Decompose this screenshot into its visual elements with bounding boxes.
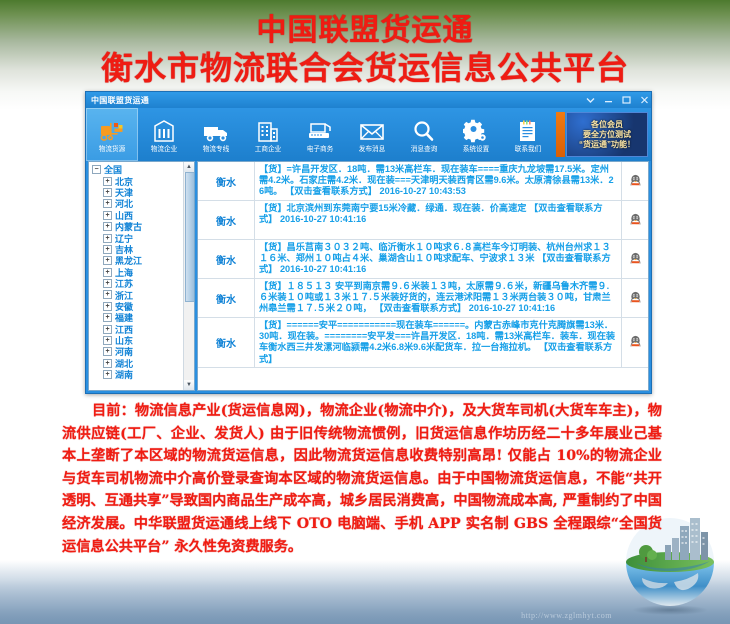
tree-node-shandong[interactable]: +山东 [91, 335, 194, 346]
page-title: 中国联盟货运通 衡水市物流联合会货运信息公共平台 [0, 14, 730, 88]
tree-expander-icon[interactable]: + [103, 188, 112, 197]
region-tree-panel: − 全国 +北京 +天津 +河北 +山西 +内蒙古 +辽宁 +吉林 +黑龙江 +… [88, 161, 195, 391]
toolbar-label: 工商企业 [255, 144, 282, 154]
toolbar-item-xitong-shezhi[interactable]: 系统设置 [450, 108, 502, 161]
tree-node-zhejiang[interactable]: +浙江 [91, 289, 194, 300]
tree-expander-icon[interactable]: + [103, 347, 112, 356]
row-timestamp: 2016-10-27 10:41:16 [280, 264, 366, 274]
tree-node-jiangxi[interactable]: +江西 [91, 323, 194, 334]
application-window: 中国联盟货运通 [85, 91, 652, 394]
tree-node-shanghai[interactable]: +上海 [91, 267, 194, 278]
tree-node-fujian[interactable]: +福建 [91, 312, 194, 323]
row-timestamp: 2016-10-27 10:41:16 [469, 303, 555, 313]
tree-expander-icon[interactable]: + [103, 222, 112, 231]
tree-expander-icon[interactable]: + [103, 177, 112, 186]
table-row[interactable]: 衡水 【货】北京滨州到东莞南宁要15米冷藏．绿通．现在装．价高速定 【双击查看联… [198, 201, 648, 240]
toolbar-label: 物流货源 [99, 144, 126, 154]
tree-node-hebei[interactable]: +河北 [91, 198, 194, 209]
freight-message-grid: 衡水 【货】=许昌开发区．18吨．需13米高栏车．现在装车====重庆九龙坡需1… [197, 161, 649, 391]
toolbar-item-gongshang-qiye[interactable]: 工商企业 [242, 108, 294, 161]
toolbar-item-lianxi-women[interactable]: 联系我们 [502, 108, 554, 161]
qq-penguin-icon[interactable] [622, 318, 648, 367]
row-message: 【货】======安平===========现在装车======。内蒙古赤峰市克… [255, 318, 622, 367]
tree-expander-icon[interactable]: − [92, 165, 101, 174]
qq-penguin-icon[interactable] [622, 279, 648, 317]
row-city: 衡水 [198, 240, 255, 278]
promotional-paragraph: 目前：物流信息产业(货运信息网)，物流企业(物流中介)，及大货车司机(大货车车主… [62, 400, 662, 558]
footer-url: http://www.zglmhyt.com [521, 611, 612, 620]
main-toolbar: 物流货源 物流企业 物流专线 [86, 108, 651, 161]
window-title-text: 中国联盟货运通 [88, 95, 149, 106]
tree-node-jilin[interactable]: +吉林 [91, 244, 194, 255]
member-notice-banner[interactable]: 各位会员 要全方位测试 “货运通”功能！ [566, 112, 648, 157]
table-row[interactable]: 衡水 【货】=许昌开发区．18吨．需13米高栏车．现在装车====重庆九龙坡需1… [198, 162, 648, 201]
tree-expander-icon[interactable]: + [103, 290, 112, 299]
row-city: 衡水 [198, 279, 255, 317]
scrollbar-thumb[interactable] [185, 172, 195, 302]
row-city: 衡水 [198, 201, 255, 239]
tree-node-shanxi[interactable]: +山西 [91, 210, 194, 221]
headline-line-2: 衡水市物流联合会货运信息公共平台 [0, 48, 730, 88]
toolbar-item-xiaoxi-chaxun[interactable]: 消息查询 [398, 108, 450, 161]
tree-node-quanguo[interactable]: − 全国 [91, 164, 194, 175]
row-message: 【货】=许昌开发区．18吨．需13米高栏车．现在装车====重庆九龙坡需17.5… [255, 162, 622, 200]
tree-expander-icon[interactable]: + [103, 245, 112, 254]
toolbar-label: 系统设置 [463, 144, 490, 154]
close-icon[interactable] [640, 96, 649, 104]
forklift-icon [99, 116, 125, 143]
row-timestamp: 2016-10-27 10:43:53 [379, 186, 465, 196]
scroll-up-icon[interactable]: ▲ [184, 162, 194, 172]
tree-node-henan[interactable]: +河南 [91, 346, 194, 357]
toolbar-label: 联系我们 [515, 144, 542, 154]
minimize-icon[interactable] [604, 97, 613, 103]
banner-line-3: “货运通”功能！ [579, 140, 635, 150]
toolbar-item-wuliu-qiye[interactable]: 物流企业 [138, 108, 190, 161]
document-icon [515, 116, 541, 143]
tree-expander-icon[interactable]: + [103, 325, 112, 334]
tree-scrollbar[interactable]: ▲ ▼ [183, 162, 194, 390]
scroll-down-icon[interactable]: ▼ [184, 380, 194, 390]
toolbar-divider-stripe [556, 112, 565, 157]
table-row[interactable]: 衡水 【货】昌乐莒南３０３２吨、临沂衡水１０吨求６.８高栏车今订明装、杭州台州求… [198, 240, 648, 279]
toolbar-item-wuliu-zhuanxian[interactable]: 物流专线 [190, 108, 242, 161]
banner-line-2: 要全方位测试 [583, 130, 631, 140]
row-message-text: 【货】１８５１３ 安平到南京需９.６米装１３吨，太原需９.６米，新疆乌鲁木齐需９… [259, 281, 611, 313]
banner-line-1: 各位会员 [591, 120, 623, 130]
headline-line-1: 中国联盟货运通 [0, 14, 730, 48]
row-message: 【货】１８５１３ 安平到南京需９.６米装１３吨，太原需９.６米，新疆乌鲁木齐需９… [255, 279, 622, 317]
row-message-text: 【货】======安平===========现在装车======。内蒙古赤峰市克… [259, 320, 615, 364]
row-city: 衡水 [198, 162, 255, 200]
chevron-down-icon[interactable] [586, 97, 595, 103]
toolbar-label: 发布消息 [359, 144, 386, 154]
gear-icon [463, 116, 489, 143]
tree-node-jiangsu[interactable]: +江苏 [91, 278, 194, 289]
truck-icon [202, 116, 230, 143]
tree-expander-icon[interactable]: + [103, 199, 112, 208]
toolbar-item-fabu-xiaoxi[interactable]: 发布消息 [346, 108, 398, 161]
grid-footer [198, 368, 648, 377]
tree-expander-icon[interactable]: + [103, 313, 112, 322]
tree-expander-icon[interactable]: + [103, 359, 112, 368]
tree-node-hunan[interactable]: +湖南 [91, 369, 194, 380]
tree-node-liaoning[interactable]: +辽宁 [91, 232, 194, 243]
tree-node-heilongjiang[interactable]: +黑龙江 [91, 255, 194, 266]
tree-expander-icon[interactable]: + [103, 302, 112, 311]
tree-expander-icon[interactable]: + [103, 279, 112, 288]
tree-expander-icon[interactable]: + [103, 234, 112, 243]
tree-expander-icon[interactable]: + [103, 256, 112, 265]
search-icon [411, 116, 437, 143]
window-controls [586, 92, 649, 108]
row-timestamp: 2016-10-27 10:41:16 [280, 214, 366, 224]
tree-expander-icon[interactable]: + [103, 268, 112, 277]
qq-penguin-icon[interactable] [622, 162, 648, 200]
qq-penguin-icon[interactable] [622, 201, 648, 239]
tree-node-tianjin[interactable]: +天津 [91, 187, 194, 198]
row-city: 衡水 [198, 318, 255, 367]
window-body: − 全国 +北京 +天津 +河北 +山西 +内蒙古 +辽宁 +吉林 +黑龙江 +… [86, 161, 651, 393]
toolbar-label: 消息查询 [411, 144, 438, 154]
table-row[interactable]: 衡水 【货】======安平===========现在装车======。内蒙古赤… [198, 318, 648, 368]
tree-expander-icon[interactable]: + [103, 211, 112, 220]
row-message: 【货】昌乐莒南３０３２吨、临沂衡水１０吨求６.８高栏车今订明装、杭州台州求１３１… [255, 240, 622, 278]
tree-expander-icon[interactable]: + [103, 336, 112, 345]
tree-node-beijing[interactable]: +北京 [91, 175, 194, 186]
table-row[interactable]: 衡水 【货】１８５１３ 安平到南京需９.６米装１３吨，太原需９.６米，新疆乌鲁木… [198, 279, 648, 318]
tree-node-neimenggu[interactable]: +内蒙古 [91, 221, 194, 232]
toolbar-label: 物流企业 [151, 144, 178, 154]
region-tree-list: − 全国 +北京 +天津 +河北 +山西 +内蒙古 +辽宁 +吉林 +黑龙江 +… [89, 162, 194, 380]
building-icon [151, 116, 177, 143]
toolbar-item-wuliu-huoyuan[interactable]: 物流货源 [86, 108, 138, 161]
envelope-icon [358, 116, 386, 143]
window-title-bar[interactable]: 中国联盟货运通 [86, 92, 651, 108]
toolbar-label: 物流专线 [203, 144, 230, 154]
tree-node-hubei[interactable]: +湖北 [91, 358, 194, 369]
toolbar-item-dianzi-shangwu[interactable]: 电子商务 [294, 108, 346, 161]
maximize-icon[interactable] [622, 96, 631, 104]
ecommerce-icon [306, 116, 334, 143]
tree-node-label: 湖南 [115, 368, 133, 381]
row-message: 【货】北京滨州到东莞南宁要15米冷藏．绿通．现在装．价高速定 【双击查看联系方式… [255, 201, 622, 239]
office-building-icon [255, 116, 281, 143]
tree-node-anhui[interactable]: +安徽 [91, 301, 194, 312]
qq-penguin-icon[interactable] [622, 240, 648, 278]
tree-expander-icon[interactable]: + [103, 370, 112, 379]
toolbar-label: 电子商务 [307, 144, 334, 154]
